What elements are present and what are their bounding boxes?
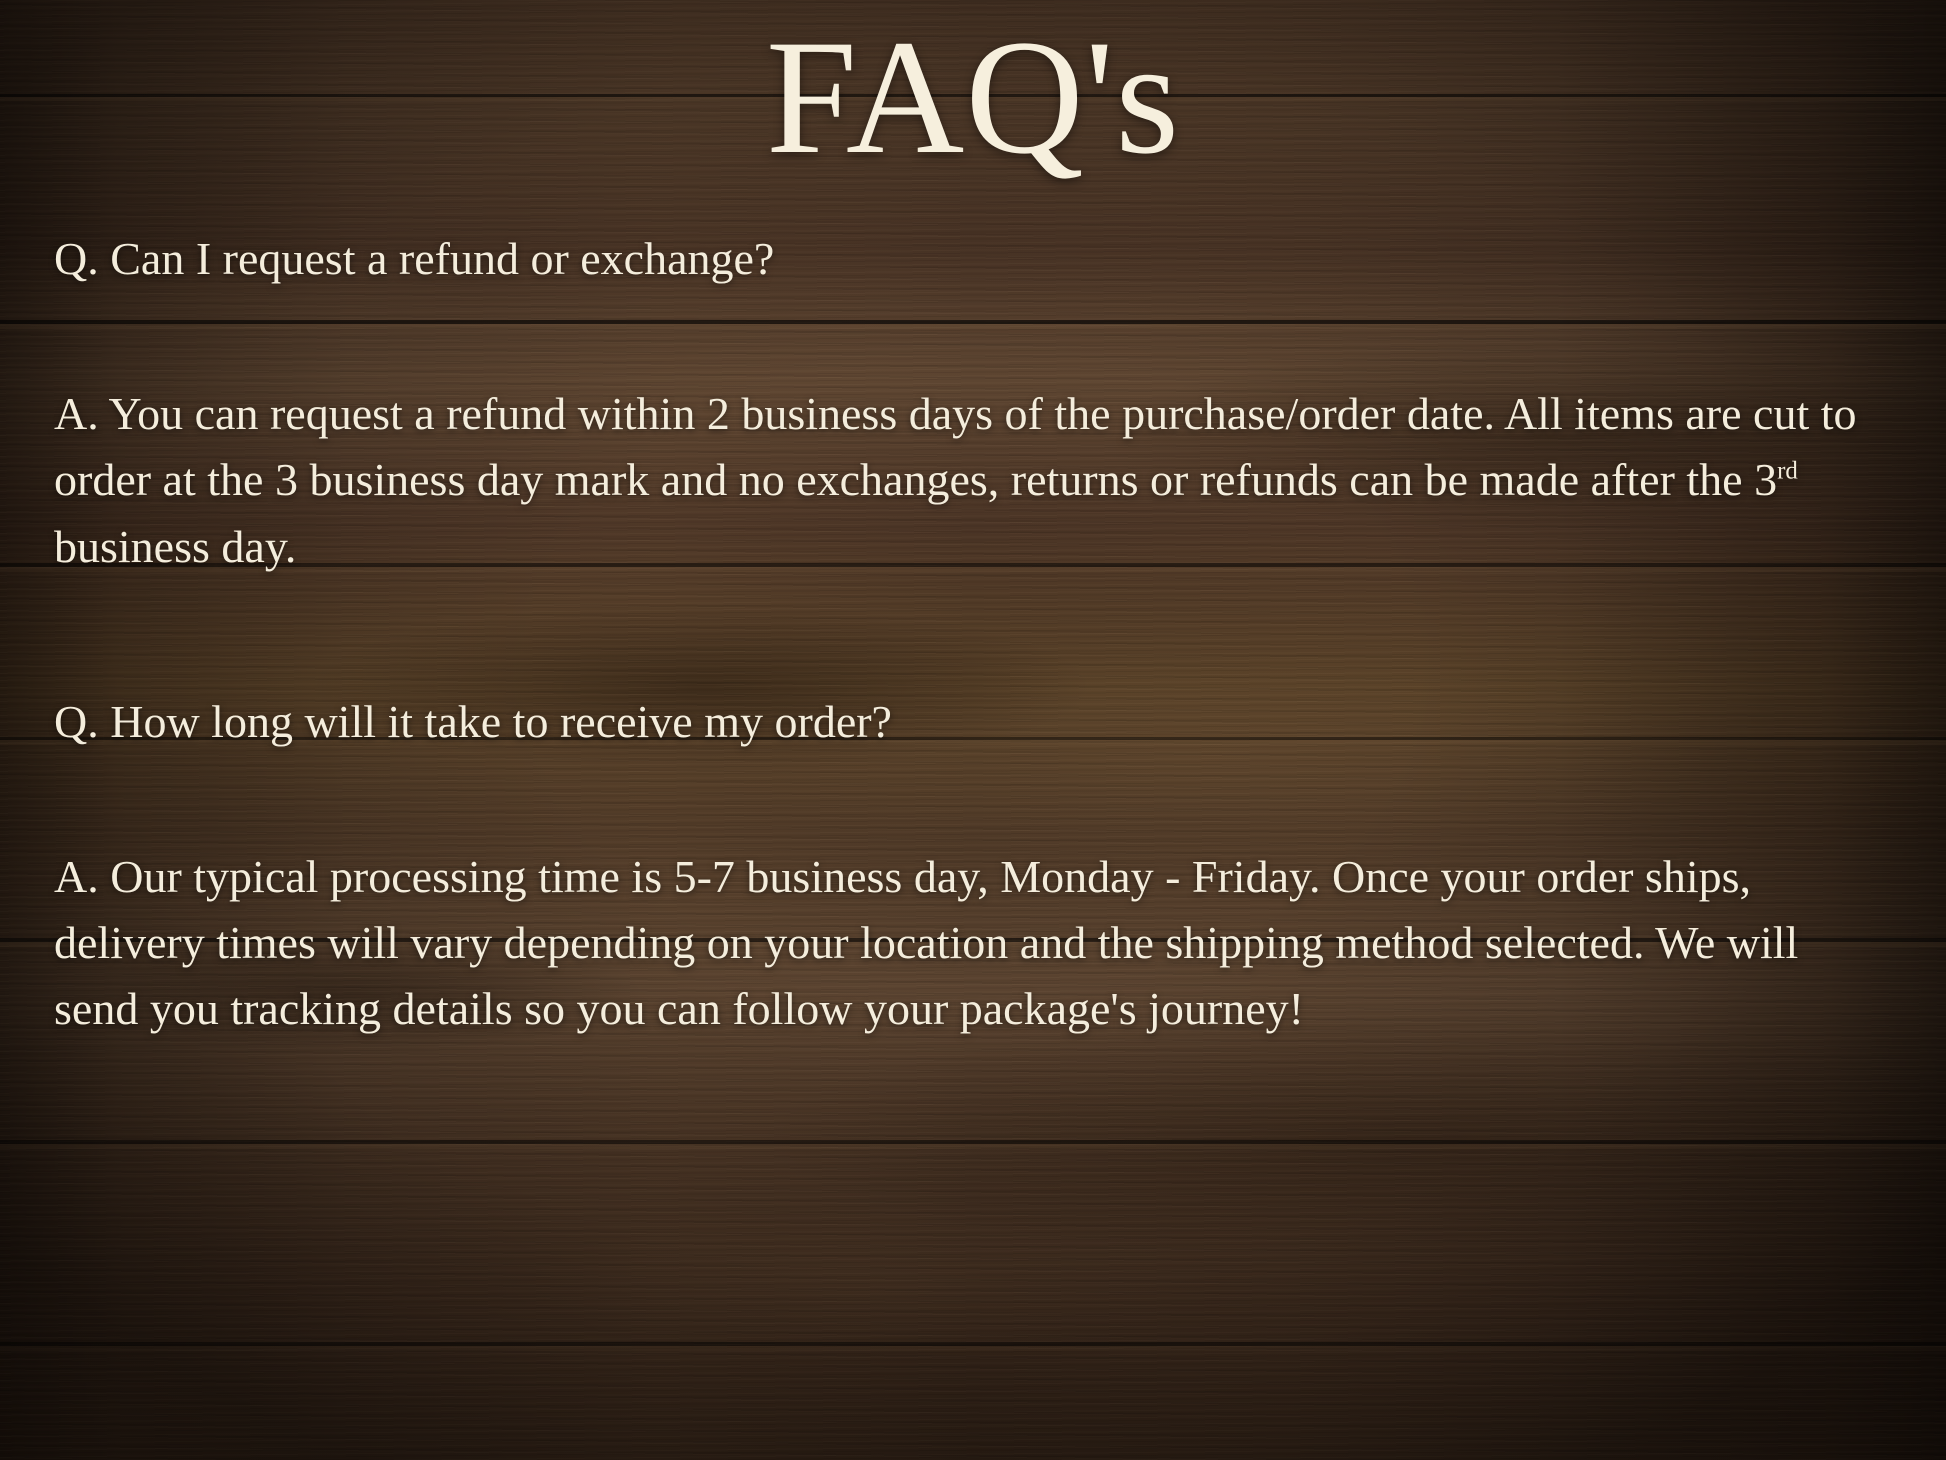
page-title: FAQ's <box>54 0 1892 181</box>
faq-question: Q. How long will it take to receive my o… <box>54 692 1892 752</box>
faq-question: Q. Can I request a refund or exchange? <box>54 229 1892 289</box>
spacer <box>54 289 1892 381</box>
faq-answer-text-part2: business day. <box>54 521 296 572</box>
faq-content: FAQ's Q. Can I request a refund or excha… <box>0 0 1946 1460</box>
faq-answer: A. Our typical processing time is 5-7 bu… <box>54 844 1892 1043</box>
faq-list: Q. Can I request a refund or exchange? A… <box>54 229 1892 1042</box>
faq-item-shipping: Q. How long will it take to receive my o… <box>54 692 1892 1043</box>
spacer <box>54 580 1892 692</box>
spacer <box>54 752 1892 844</box>
faq-page: FAQ's Q. Can I request a refund or excha… <box>0 0 1946 1460</box>
faq-item-refund: Q. Can I request a refund or exchange? A… <box>54 229 1892 580</box>
ordinal-suffix: rd <box>1777 458 1798 485</box>
faq-answer-text-part1: A. You can request a refund within 2 bus… <box>54 388 1857 505</box>
faq-answer: A. You can request a refund within 2 bus… <box>54 381 1892 580</box>
